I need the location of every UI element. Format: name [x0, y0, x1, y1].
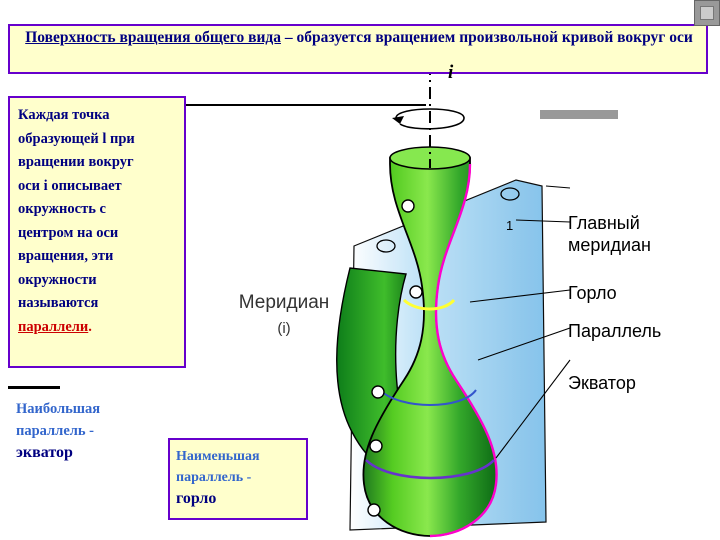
top-right-button-icon — [700, 6, 714, 20]
explanation-line-7: окружности — [18, 269, 183, 293]
explanation-line-6: вращения, эти — [18, 245, 183, 269]
slide-canvas: Поверхность вращения общего вида – образ… — [0, 0, 720, 540]
meridian-sublabel: (i) — [214, 320, 354, 337]
pointer-line-top — [186, 104, 426, 106]
grey-bar — [540, 110, 618, 119]
explanation-line-3: оси i описывает — [18, 175, 183, 199]
point-marker-bottom — [368, 504, 380, 516]
explanation-keyword: параллели — [18, 319, 88, 335]
page-title: Поверхность вращения общего вида – образ… — [14, 28, 704, 47]
largest-parallel-line3: экватор — [16, 442, 166, 464]
explanation-line-0: Каждая точка — [18, 104, 183, 128]
explanation-line-2: вращении вокруг — [18, 151, 183, 175]
largest-parallel-caption: Наибольшая параллель - экватор — [16, 398, 166, 464]
explanation-keyword-dot: . — [88, 319, 92, 335]
top-right-button[interactable] — [694, 0, 720, 26]
label-ekvator: Экватор — [568, 372, 698, 394]
point-marker-top — [402, 200, 414, 212]
point-marker-eq — [370, 440, 382, 452]
largest-parallel-line2: параллель - — [16, 420, 166, 442]
explanation-line-4: окружность с — [18, 198, 183, 222]
smallest-parallel-line1: Наименьшая — [176, 446, 304, 467]
meridian-label: Меридиан — [214, 292, 354, 314]
explanation-line-1: образующей l при — [18, 128, 183, 152]
label-gorlo: Горло — [568, 282, 678, 304]
smallest-parallel-line2: параллель - — [176, 467, 304, 488]
point-marker-low — [372, 386, 384, 398]
explanation-line-8: называются — [18, 292, 183, 316]
axis-label: i — [448, 62, 453, 84]
divider-rule — [8, 386, 60, 389]
label-main-meridian: Главный меридиан — [568, 212, 678, 256]
point-marker-mid — [410, 286, 422, 298]
explanation-text: Каждая точка образующей l при вращении в… — [18, 104, 183, 339]
smallest-parallel-line3: горло — [176, 488, 304, 509]
title-rest: – образуется вращением произвольной крив… — [281, 29, 693, 46]
label-parallel: Параллель — [568, 320, 698, 342]
title-underlined: Поверхность вращения общего вида — [25, 29, 281, 46]
explanation-line-5: центром на оси — [18, 222, 183, 246]
largest-parallel-line1: Наибольшая — [16, 398, 166, 420]
point-label-1: 1 — [506, 218, 513, 233]
smallest-parallel-caption: Наименьшая параллель - горло — [176, 446, 304, 509]
